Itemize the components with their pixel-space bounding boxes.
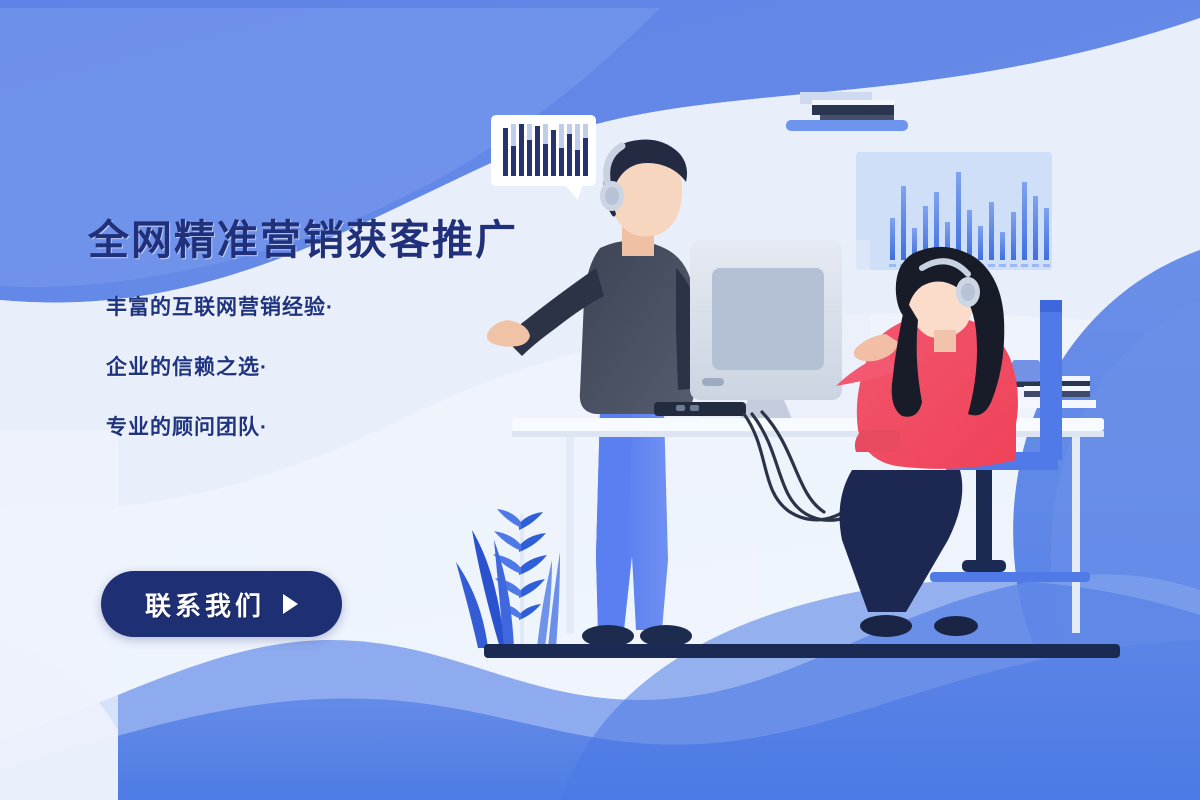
play-arrow-icon [283,594,298,614]
floor-line [484,644,1120,658]
desktop-computer-monitor [690,240,842,428]
floating-shelf-with-books [786,92,908,131]
benefit-line-2: 企业的信赖之选· [106,351,508,381]
page-title: 全网精准营销获客推广 [88,218,508,263]
contact-us-button[interactable]: 联系我们 [101,571,342,637]
potted-fern-plant [456,509,560,648]
contact-us-label: 联系我们 [145,586,265,623]
benefit-line-3: 专业的顾问团队· [106,411,508,441]
speech-bubble-bar-chart [491,115,596,200]
benefit-line-1: 丰富的互联网营销经验· [106,291,508,321]
copy-block: 全网精准营销获客推广 丰富的互联网营销经验· 企业的信赖之选· 专业的顾问团队· [88,218,508,471]
marketing-banner: 全网精准营销获客推广 丰富的互联网营销经验· 企业的信赖之选· 专业的顾问团队·… [0,0,1200,800]
